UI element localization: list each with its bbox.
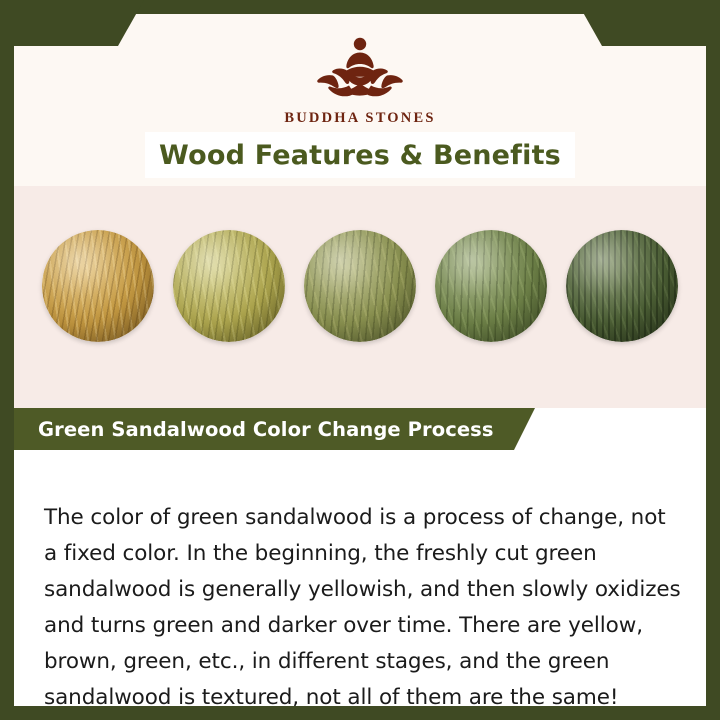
page-title: Wood Features & Benefits	[145, 132, 575, 178]
poster-canvas: BUDDHA STONES Wood Features & Benefits	[14, 14, 706, 706]
body-paragraph: The color of green sandalwood is a proce…	[44, 500, 684, 707]
page-title-text: Wood Features & Benefits	[159, 140, 561, 171]
bead-stage-2	[173, 230, 285, 342]
frame-corner-top-left	[0, 0, 118, 46]
bead-gallery	[14, 186, 706, 408]
body-section: The color of green sandalwood is a proce…	[14, 450, 706, 706]
poster-page: BUDDHA STONES Wood Features & Benefits	[0, 0, 720, 720]
bead-stage-4	[435, 230, 547, 342]
bead-stage-1	[42, 230, 154, 342]
section-header: Green Sandalwood Color Change Process	[14, 408, 514, 450]
frame-corner-top-right	[602, 0, 720, 46]
bead-stage-5	[566, 230, 678, 342]
section-header-text: Green Sandalwood Color Change Process	[14, 418, 494, 441]
lotus-buddha-icon	[285, 30, 435, 108]
brand-name: BUDDHA STONES	[14, 110, 706, 127]
bead-row	[14, 230, 706, 342]
bead-stage-3	[304, 230, 416, 342]
